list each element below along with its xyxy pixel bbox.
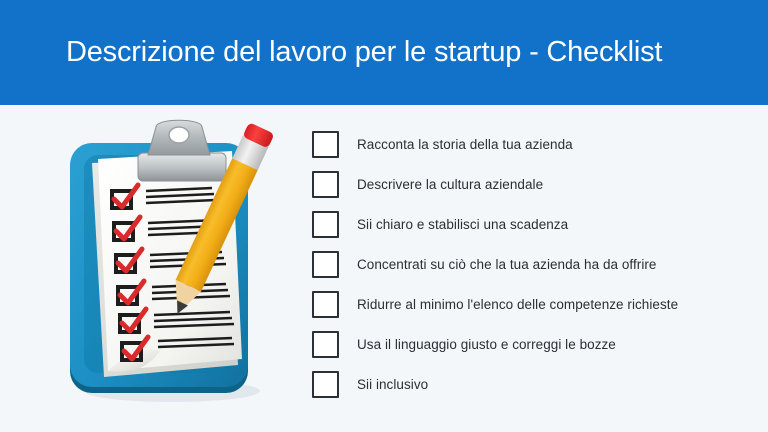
checkbox-icon[interactable] — [312, 331, 339, 358]
checklist-item-label: Concentrati su ciò che la tua azienda ha… — [357, 258, 656, 272]
checklist-item-label: Sii chiaro e stabilisci una scadenza — [357, 218, 568, 232]
checklist-row[interactable]: Sii chiaro e stabilisci una scadenza — [312, 211, 732, 238]
checkbox-icon[interactable] — [312, 291, 339, 318]
checklist-item-label: Sii inclusivo — [357, 378, 428, 392]
body-area: Racconta la storia della tua azienda Des… — [0, 105, 768, 432]
clipboard-illustration-svg — [52, 115, 292, 415]
checklist-row[interactable]: Descrivere la cultura aziendale — [312, 171, 732, 198]
checklist-row[interactable]: Concentrati su ciò che la tua azienda ha… — [312, 251, 732, 278]
checklist-row[interactable]: Sii inclusivo — [312, 371, 732, 398]
checkbox-icon[interactable] — [312, 131, 339, 158]
checkbox-icon[interactable] — [312, 171, 339, 198]
checkbox-icon[interactable] — [312, 371, 339, 398]
checkbox-icon[interactable] — [312, 251, 339, 278]
checkbox-icon[interactable] — [312, 211, 339, 238]
clip-hole — [169, 127, 189, 143]
checklist: Racconta la storia della tua azienda Des… — [312, 131, 732, 398]
checklist-item-label: Ridurre al minimo l'elenco delle compete… — [357, 298, 678, 312]
checklist-item-label: Racconta la storia della tua azienda — [357, 138, 573, 152]
header-bar: Descrizione del lavoro per le startup - … — [0, 0, 768, 105]
page-title: Descrizione del lavoro per le startup - … — [0, 36, 662, 69]
clip-bar — [138, 153, 226, 181]
checklist-row[interactable]: Racconta la storia della tua azienda — [312, 131, 732, 158]
checklist-row[interactable]: Usa il linguaggio giusto e correggi le b… — [312, 331, 732, 358]
checklist-item-label: Descrivere la cultura aziendale — [357, 178, 543, 192]
slide-root: Descrizione del lavoro per le startup - … — [0, 0, 768, 432]
checklist-item-label: Usa il linguaggio giusto e correggi le b… — [357, 338, 616, 352]
checklist-row[interactable]: Ridurre al minimo l'elenco delle compete… — [312, 291, 732, 318]
clipboard-checklist-illustration — [52, 115, 292, 415]
